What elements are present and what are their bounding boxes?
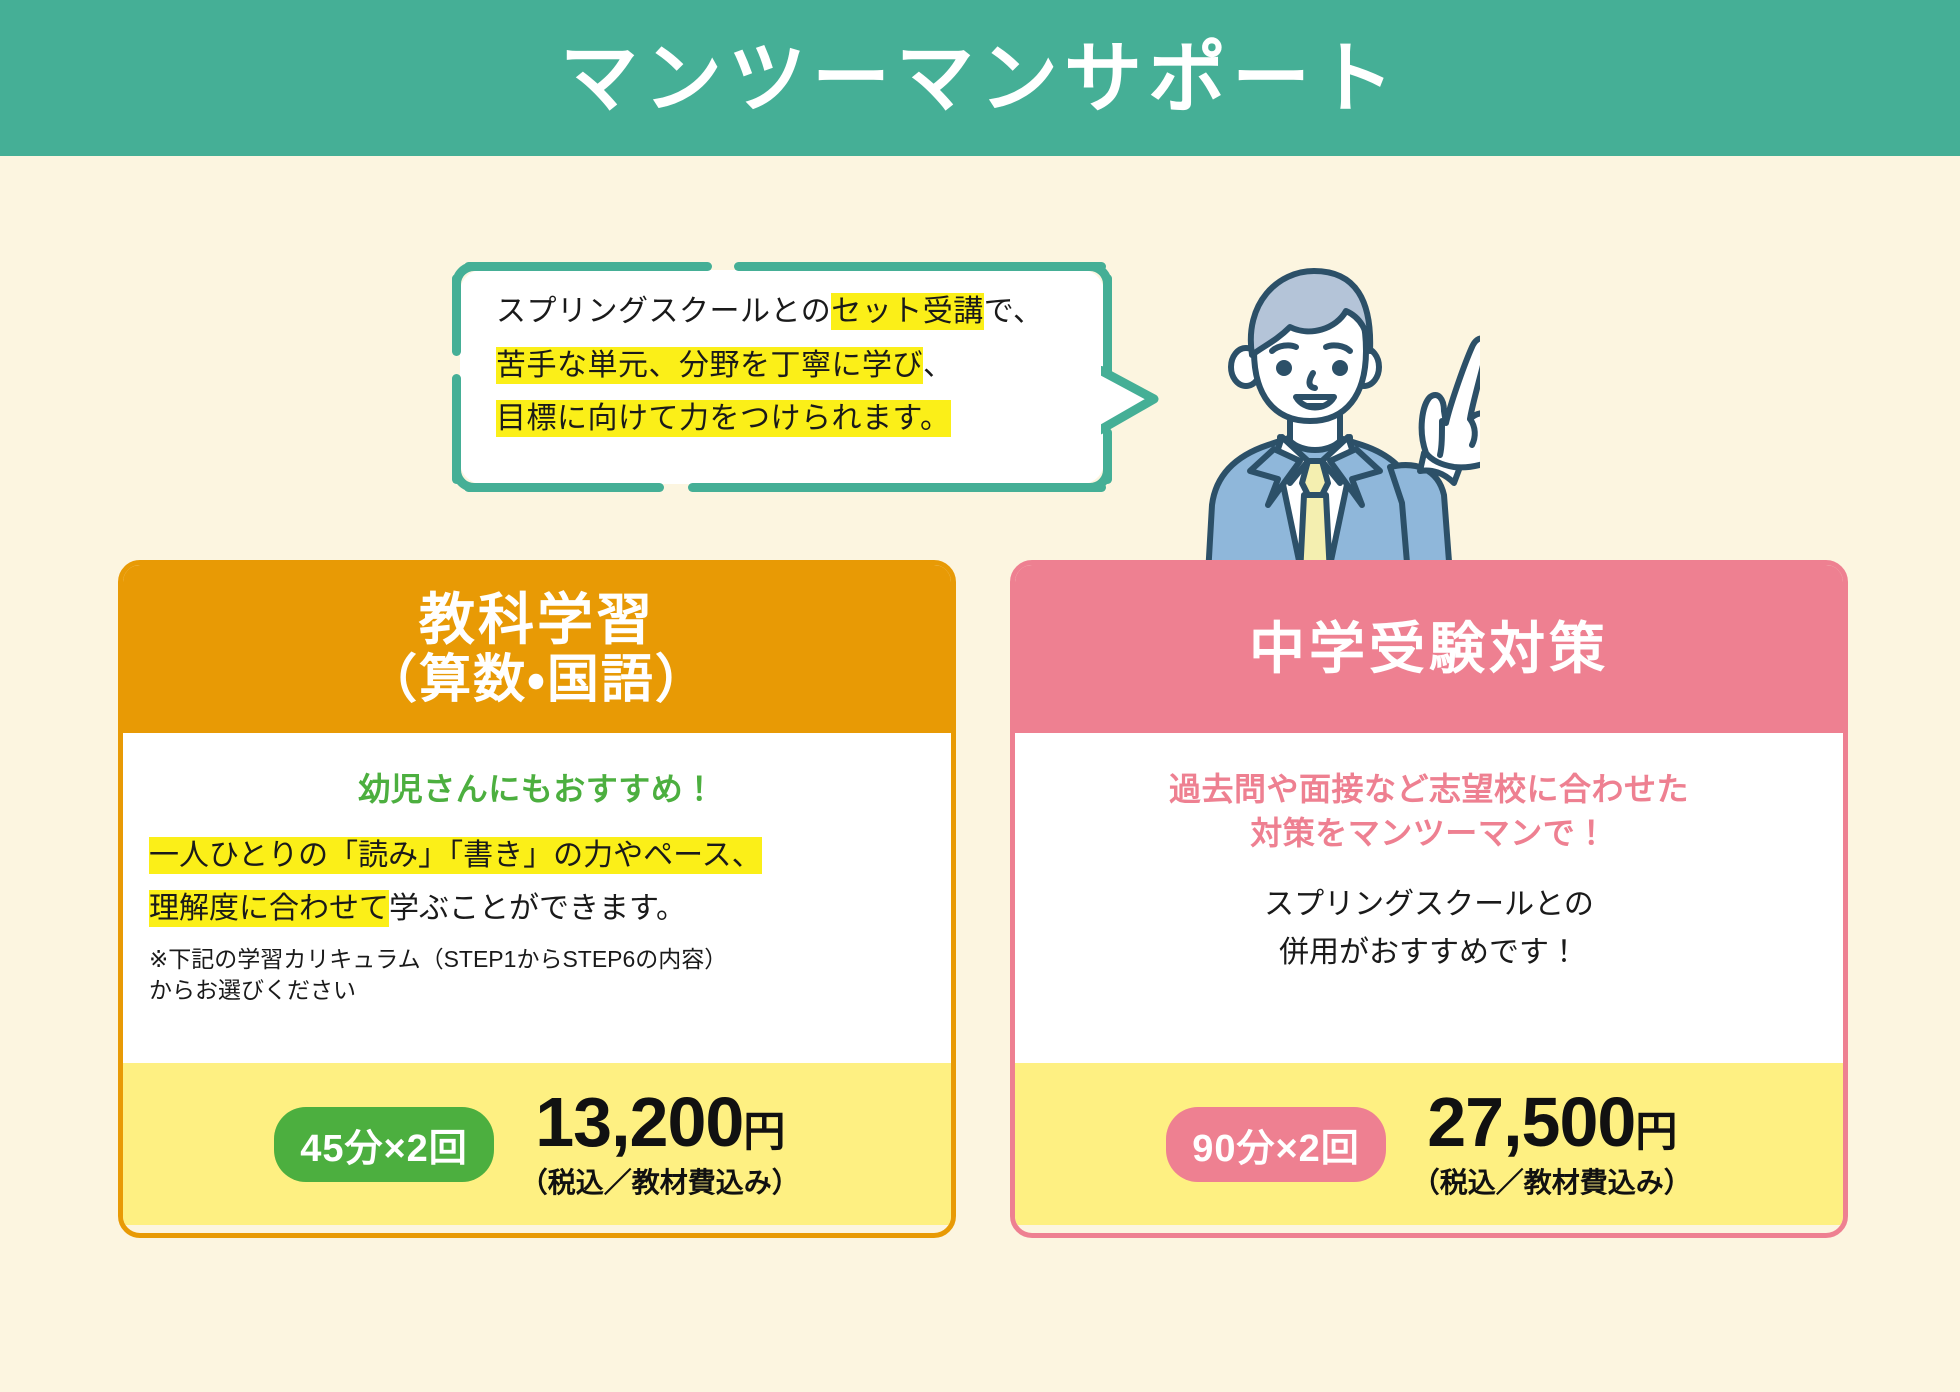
description-line-2-plain: 学ぶことができます。 — [389, 892, 686, 925]
speech-bubble-text: スプリングスクールとのセット受講で、 苦手な単元、分野を丁寧に学び、 目標に向け… — [496, 288, 1076, 449]
description-line-1-highlight: 一人ひとりの「読み」「書き」の力やペース、 — [149, 837, 762, 874]
plan-card-body-middle-school-exam: 過去問や面接など志望校に合わせた 対策をマンツーマンで！ スプリングスクールとの… — [1015, 733, 1843, 1063]
price-amount-subject-study: 13,200 — [535, 1083, 743, 1161]
price-currency-subject-study: 円 — [743, 1108, 784, 1155]
price-block-subject-study: 13,200円 （税込／教材費込み） — [520, 1087, 800, 1200]
bubble-line-3: 目標に向けて力をつけられます。 — [496, 395, 1076, 444]
duration-badge-subject-study: 45分×2回 — [274, 1107, 494, 1182]
plan-title-line2: （算数・国語） — [365, 651, 709, 709]
description-center-line-1: スプリングスクールとの — [1041, 881, 1817, 928]
bubble-border-bottom-left-segment — [464, 483, 664, 492]
bubble-line-1: スプリングスクールとのセット受講で、 — [496, 288, 1076, 337]
lead-line-2: 対策をマンツーマンで！ — [1041, 811, 1817, 855]
bubble-border-top-left-segment — [464, 262, 712, 271]
bubble-line-1-plain-before: スプリングスクールとの — [496, 295, 831, 328]
description-line-2-highlight: 理解度に合わせて — [149, 890, 389, 927]
price-block-middle-school-exam: 27,500円 （税込／教材費込み） — [1412, 1087, 1692, 1200]
plan-title-line1: 教科学習 — [419, 589, 655, 652]
description-line-1: 一人ひとりの「読み」「書き」の力やペース、 — [149, 833, 925, 880]
plan-description-subject-study: 一人ひとりの「読み」「書き」の力やペース、 理解度に合わせて学ぶことができます。 — [149, 833, 925, 932]
plan-note-subject-study: ※下記の学習カリキュラム（STEP1からSTEP6の内容） からお選びください — [149, 944, 925, 1006]
bubble-line-2-plain-after: 、 — [923, 349, 954, 382]
plan-title-middle-school-exam: 中学受験対策 — [1249, 618, 1609, 681]
bubble-border-top-right-segment — [734, 262, 1106, 271]
bubble-line-2-highlight: 苦手な単元、分野を丁寧に学び — [496, 347, 923, 384]
page-title: マンツーマンサポート — [560, 39, 1400, 117]
plan-card-footer-middle-school-exam: 90分×2回 27,500円 （税込／教材費込み） — [1015, 1063, 1843, 1225]
duration-badge-middle-school-exam: 90分×2回 — [1166, 1107, 1386, 1182]
description-center-line-2: 併用がおすすめです！ — [1041, 929, 1817, 976]
price-currency-middle-school-exam: 円 — [1635, 1108, 1676, 1155]
plan-card-subject-study[interactable]: 教科学習 （算数・国語） 幼児さんにもおすすめ！ 一人ひとりの「読み」「書き」の… — [118, 560, 956, 1238]
bubble-corner-top-left — [452, 262, 486, 296]
note-line-1: ※下記の学習カリキュラム（STEP1からSTEP6の内容） — [149, 944, 925, 975]
bubble-line-3-highlight: 目標に向けて力をつけられます。 — [496, 400, 951, 437]
plan-card-header-middle-school-exam: 中学受験対策 — [1015, 565, 1843, 733]
plan-description-middle-school-exam: スプリングスクールとの 併用がおすすめです！ — [1041, 881, 1817, 976]
plan-lead-middle-school-exam: 過去問や面接など志望校に合わせた 対策をマンツーマンで！ — [1041, 767, 1817, 855]
plan-card-header-subject-study: 教科学習 （算数・国語） — [123, 565, 951, 733]
bubble-line-2: 苦手な単元、分野を丁寧に学び、 — [496, 342, 1076, 391]
price-row-subject-study: 13,200円 — [520, 1087, 800, 1158]
bubble-line-1-highlight: セット受講 — [831, 293, 984, 330]
bubble-corner-bottom-left — [452, 458, 486, 492]
bubble-corner-bottom-right — [1078, 458, 1112, 492]
speech-bubble: スプリングスクールとのセット受講で、 苦手な単元、分野を丁寧に学び、 目標に向け… — [452, 262, 1112, 492]
bubble-border-bottom-right-segment — [688, 483, 1106, 492]
businessman-pointing-illustration — [1150, 255, 1480, 575]
plan-lead-subject-study: 幼児さんにもおすすめ！ — [149, 767, 925, 811]
description-line-2: 理解度に合わせて学ぶことができます。 — [149, 886, 925, 933]
price-row-middle-school-exam: 27,500円 — [1412, 1087, 1692, 1158]
plan-card-footer-subject-study: 45分×2回 13,200円 （税込／教材費込み） — [123, 1063, 951, 1225]
price-note-middle-school-exam: （税込／教材費込み） — [1412, 1161, 1692, 1201]
bubble-corner-top-right — [1078, 262, 1112, 296]
bubble-line-1-plain-after: で、 — [984, 295, 1044, 328]
plan-card-body-subject-study: 幼児さんにもおすすめ！ 一人ひとりの「読み」「書き」の力やペース、 理解度に合わ… — [123, 733, 951, 1063]
note-line-2: からお選びください — [149, 975, 925, 1006]
price-amount-middle-school-exam: 27,500 — [1427, 1083, 1635, 1161]
price-note-subject-study: （税込／教材費込み） — [520, 1161, 800, 1201]
plan-card-middle-school-exam[interactable]: 中学受験対策 過去問や面接など志望校に合わせた 対策をマンツーマンで！ スプリン… — [1010, 560, 1848, 1238]
page-header-banner: マンツーマンサポート — [0, 0, 1960, 156]
lead-line-1: 過去問や面接など志望校に合わせた — [1041, 767, 1817, 811]
